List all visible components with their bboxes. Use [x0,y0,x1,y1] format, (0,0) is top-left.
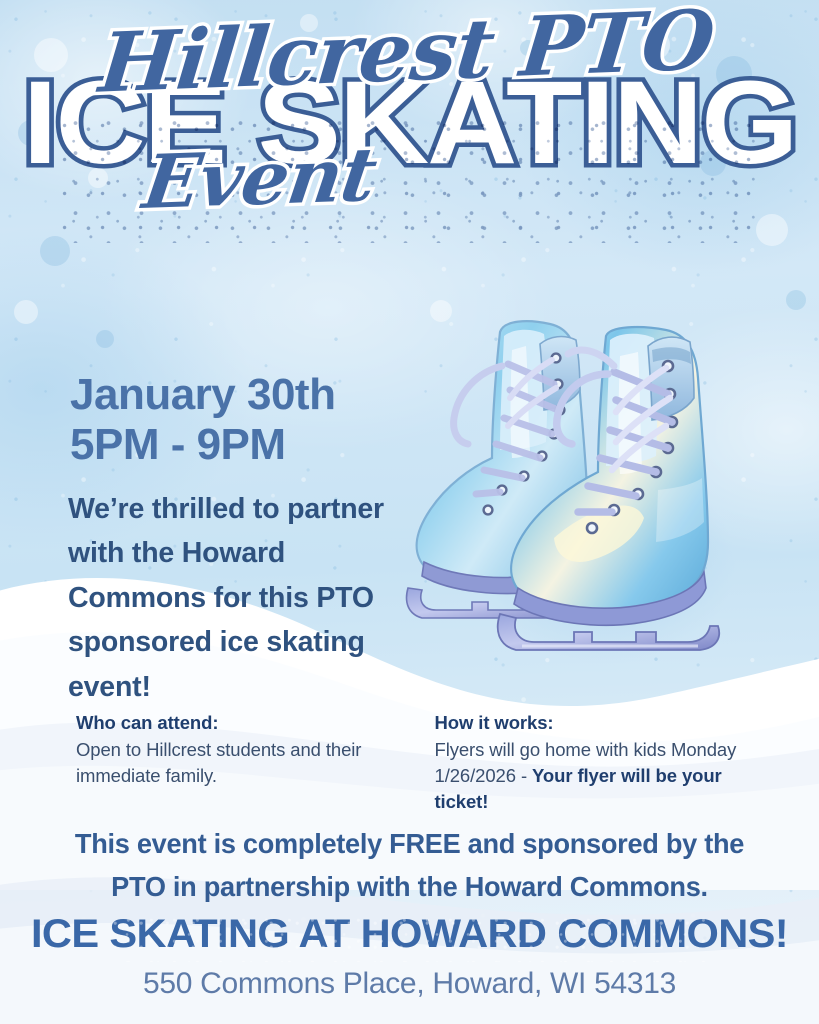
how-it-works-body: Flyers will go home with kids Monday 1/2… [435,737,744,815]
ice-skating-flyer: Hillcrest PTO ICE SKATING Event [0,0,819,1024]
event-date: January 30th [70,370,335,420]
who-can-attend-body: Open to Hillcrest students and their imm… [76,737,385,789]
info-columns: Who can attend: Open to Hillcrest studen… [0,712,819,815]
free-statement: This event is completely FREE and sponso… [12,823,806,908]
event-date-time: January 30th 5PM - 9PM [70,370,335,470]
who-can-attend-heading: Who can attend: [76,712,385,734]
intro-paragraph: We’re thrilled to partner with the Howar… [68,487,398,709]
title-block: Hillcrest PTO ICE SKATING Event [0,14,819,216]
event-time: 5PM - 9PM [70,420,335,470]
info-column-how: How it works: Flyers will go home with k… [413,712,744,815]
info-column-who: Who can attend: Open to Hillcrest studen… [76,712,385,815]
how-it-works-heading: How it works: [435,712,744,734]
ice-skates-illustration [392,272,792,672]
footer-address: 550 Commons Place, Howard, WI 54313 [0,967,819,1001]
footer-headline: ICE SKATING AT HOWARD COMMONS! [0,912,819,957]
